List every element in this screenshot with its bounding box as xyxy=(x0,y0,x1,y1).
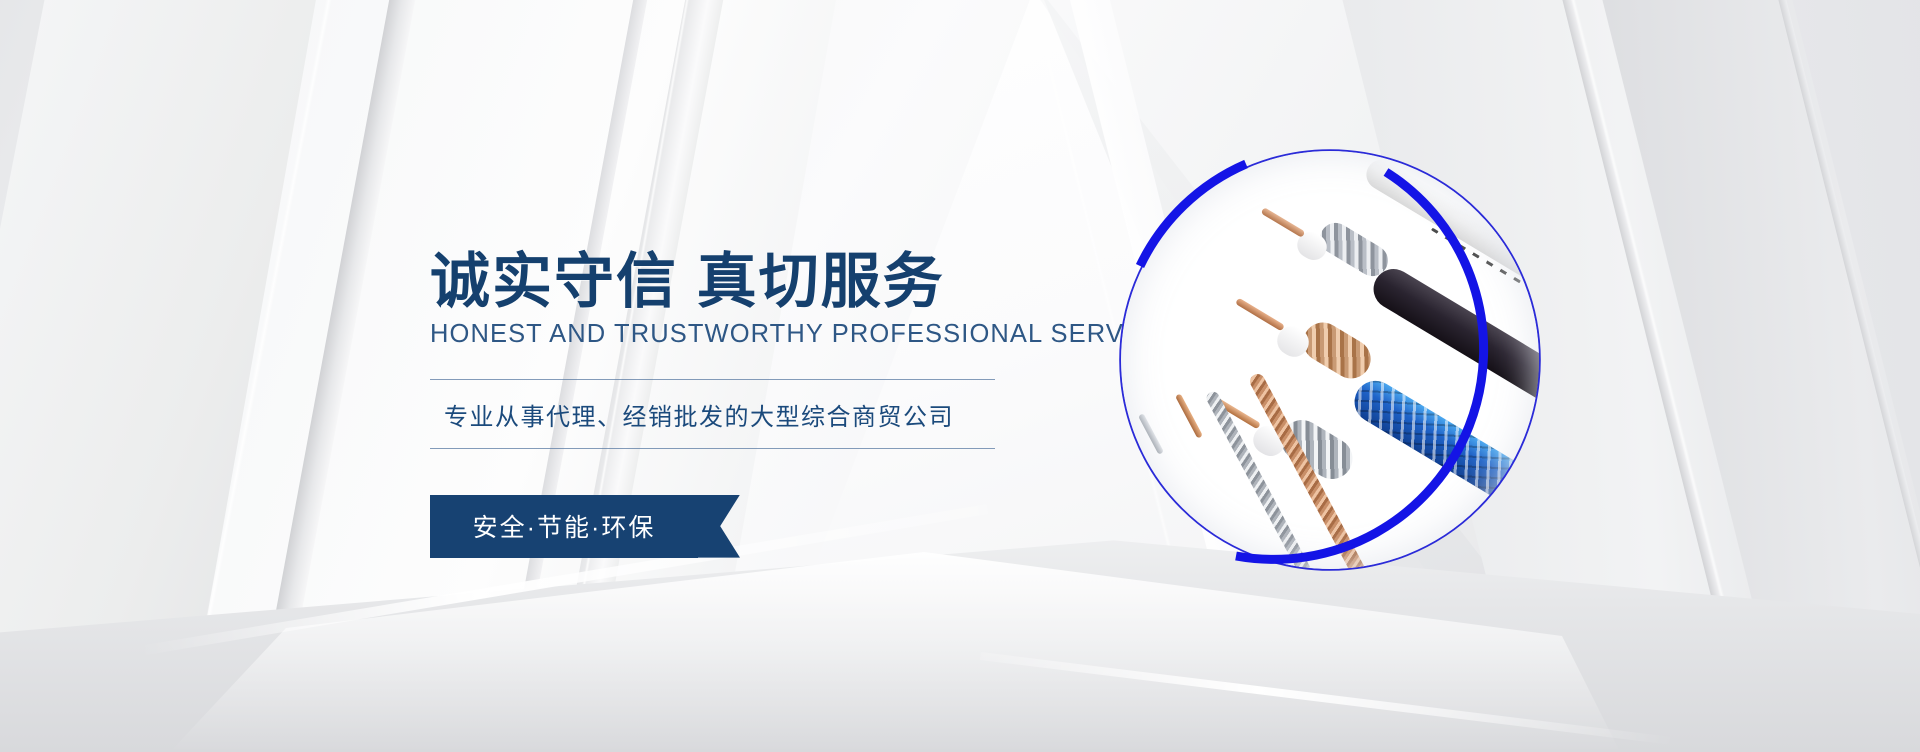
banner-subheadline-english: HONEST AND TRUSTWORTHY PROFESSIONAL SERV… xyxy=(430,320,1010,349)
ribbon-notch xyxy=(696,495,740,558)
product-medallion xyxy=(1120,150,1540,570)
feature-ribbon-badge: 安全·节能·环保 xyxy=(430,495,740,558)
banner-headline: 诚实守信 真切服务 xyxy=(430,250,1010,314)
ribbon-label: 安全·节能·环保 xyxy=(430,495,698,558)
banner-copy-block: 诚实守信 真切服务 HONEST AND TRUSTWORTHY PROFESS… xyxy=(430,250,1010,558)
divider-bottom xyxy=(430,448,995,449)
banner-description: 专业从事代理、经销批发的大型综合商贸公司 xyxy=(444,397,1010,432)
banner-description-wrapper: 专业从事代理、经销批发的大型综合商贸公司 xyxy=(430,380,1010,448)
decorative-ring-arcs xyxy=(1086,116,1574,604)
ring-arc-right-sweep xyxy=(1236,172,1484,559)
ring-arc-upper-left xyxy=(1140,164,1246,266)
promo-banner: 诚实守信 真切服务 HONEST AND TRUSTWORTHY PROFESS… xyxy=(0,0,1920,752)
divider-top xyxy=(430,379,995,380)
ring-thin-outline xyxy=(1120,150,1540,570)
